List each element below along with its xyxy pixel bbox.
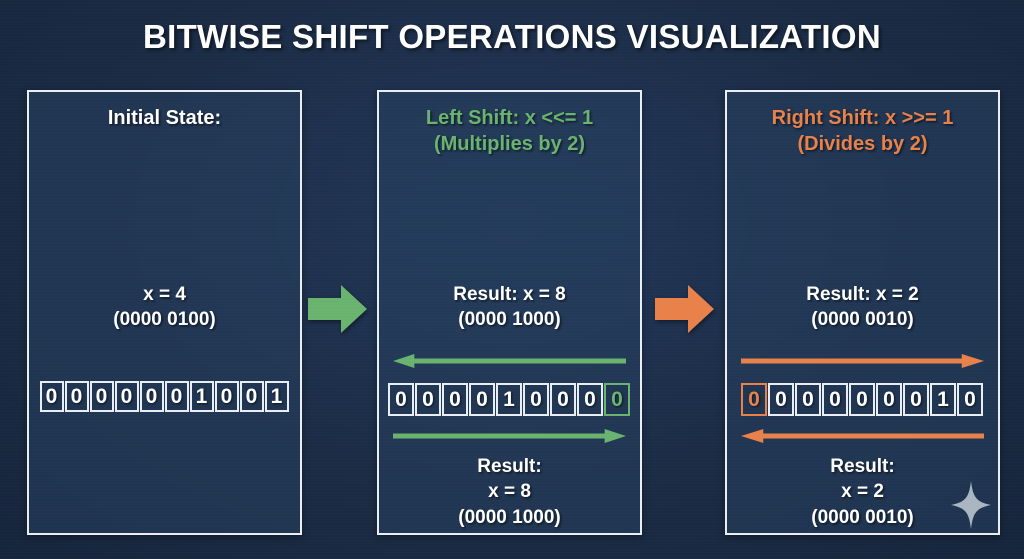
bit-cell: 0	[550, 383, 576, 416]
bit-cell: 0	[523, 383, 549, 416]
bit-cell: 0	[442, 383, 468, 416]
panel-subheading-line-1: Result: x = 2	[727, 282, 998, 307]
panel-footer-line-1: Result:	[727, 454, 998, 479]
bit-cell: 0	[90, 381, 114, 412]
bit-cell: 1	[496, 383, 522, 416]
panel-left-shift: Left Shift: x <<= 1 (Multiplies by 2) Re…	[377, 90, 642, 535]
panel-right-shift: Right Shift: x >>= 1 (Divides by 2) Resu…	[725, 90, 1000, 535]
panel-heading: Left Shift: x <<= 1 (Multiplies by 2)	[379, 106, 640, 157]
panel-heading-line-2: (Multiplies by 2)	[379, 132, 640, 158]
bit-cell: 0	[388, 383, 414, 416]
panel-heading: Right Shift: x >>= 1 (Divides by 2)	[727, 106, 998, 157]
bit-cell: 0	[215, 381, 239, 412]
shift-arrow-right	[393, 429, 626, 443]
panel-subheading-line-2: (0000 0100)	[29, 307, 300, 332]
bit-cell: 1	[190, 381, 214, 412]
bit-row-right-shift: 0 0 0 0 0 0 0 1 0	[727, 383, 998, 416]
shift-arrow-right	[741, 354, 984, 368]
panel-initial-state: Initial State: x = 4 (0000 0100) 0 0 0 0…	[27, 90, 302, 535]
right-arrow-icon	[393, 429, 626, 443]
panel-footer-line-3: (0000 1000)	[379, 505, 640, 530]
page-title: BITWISE SHIFT OPERATIONS VISUALIZATION	[0, 18, 1024, 56]
bit-cell: 0	[140, 381, 164, 412]
bit-cell: 0	[768, 383, 794, 416]
bit-cell: 0	[115, 381, 139, 412]
bit-cell: 0	[65, 381, 89, 412]
panel-footer: Result: x = 8 (0000 1000)	[379, 454, 640, 530]
right-arrow-icon	[741, 354, 984, 368]
bit-cell: 0	[240, 381, 264, 412]
bit-cell: 0	[469, 383, 495, 416]
panel-heading-line-1: Left Shift: x <<= 1	[379, 106, 640, 132]
visualization-canvas: BITWISE SHIFT OPERATIONS VISUALIZATION I…	[0, 0, 1024, 559]
panel-subheading: Result: x = 8 (0000 1000)	[379, 282, 640, 332]
panel-subheading-line-2: (0000 0010)	[727, 307, 998, 332]
panel-heading-line-2: (Divides by 2)	[727, 132, 998, 158]
panel-heading: Initial State:	[29, 106, 300, 132]
panel-footer-line-2: x = 8	[379, 479, 640, 504]
panel-subheading-line-2: (0000 1000)	[379, 307, 640, 332]
bit-cell: 0	[957, 383, 983, 416]
bit-cell-highlighted: 0	[604, 383, 630, 416]
bit-cell: 0	[822, 383, 848, 416]
panel-heading-line-1: Initial State:	[29, 106, 300, 132]
bit-cell: 0	[415, 383, 441, 416]
shift-arrow-left	[741, 429, 984, 443]
left-arrow-icon	[393, 354, 626, 368]
bit-cell: 0	[40, 381, 64, 412]
panel-subheading-line-1: Result: x = 8	[379, 282, 640, 307]
panel-subheading: Result: x = 2 (0000 0010)	[727, 282, 998, 332]
bit-cell: 0	[849, 383, 875, 416]
bit-cell: 0	[903, 383, 929, 416]
connector-arrow-initial-to-left	[308, 282, 368, 336]
bit-cell: 1	[930, 383, 956, 416]
panel-subheading: x = 4 (0000 0100)	[29, 282, 300, 332]
bit-cell: 0	[876, 383, 902, 416]
shift-arrow-left	[393, 354, 626, 368]
bit-cell: 0	[795, 383, 821, 416]
bit-cell: 1	[265, 381, 289, 412]
connector-arrow-left-to-right	[655, 282, 715, 336]
bit-row-left-shift: 0 0 0 0 1 0 0 0 0	[379, 383, 640, 416]
bit-cell: 0	[165, 381, 189, 412]
panel-heading-line-1: Right Shift: x >>= 1	[727, 106, 998, 132]
panel-footer-line-1: Result:	[379, 454, 640, 479]
panel-subheading-line-1: x = 4	[29, 282, 300, 307]
bit-row-initial: 0 0 0 0 0 0 1 0 0 1	[29, 381, 300, 412]
right-arrow-icon	[308, 285, 367, 333]
right-arrow-icon	[655, 285, 714, 333]
bit-cell-highlighted: 0	[741, 383, 767, 416]
bit-cell: 0	[577, 383, 603, 416]
sparkle-icon	[950, 481, 992, 529]
left-arrow-icon	[741, 429, 984, 443]
